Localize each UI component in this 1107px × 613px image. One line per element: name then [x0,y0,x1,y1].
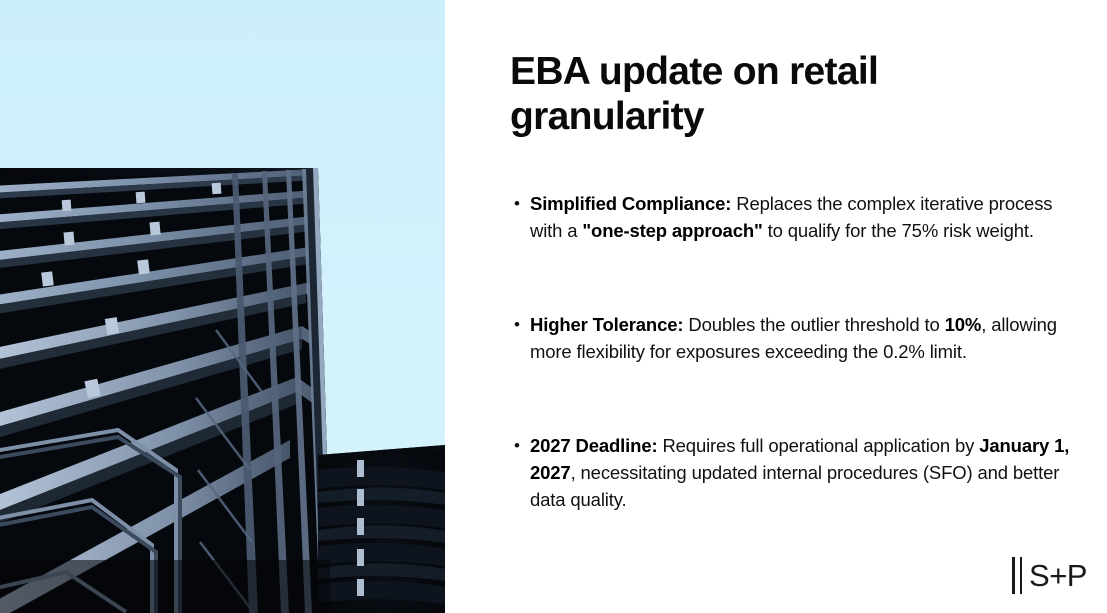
logo-text: S+P [1029,557,1087,594]
bullet-body-1: Requires full operational application by [657,435,979,456]
bullet-marker-icon: • [510,432,530,459]
bullet-lead: Simplified Compliance: [530,193,731,214]
bullet-body-2: to qualify for the 75% risk weight. [763,220,1034,241]
bullet-lead: 2027 Deadline: [530,435,657,456]
content-panel: EBA update on retail granularity • Simpl… [445,0,1107,613]
list-item: • Simplified Compliance: Replaces the co… [510,190,1085,244]
bullet-body-2: , necessitating updated internal procedu… [530,462,1059,510]
logo-bar-1 [1012,557,1015,594]
list-item: • Higher Tolerance: Doubles the outlier … [510,311,1085,365]
bullet-marker-icon: • [510,190,530,217]
slide-root: EBA update on retail granularity • Simpl… [0,0,1107,613]
bullet-marker-icon: • [510,311,530,338]
bullet-emphasis: 10% [945,314,982,335]
bullet-text: Simplified Compliance: Replaces the comp… [530,190,1085,244]
bullet-text: Higher Tolerance: Doubles the outlier th… [530,311,1085,365]
bullet-emphasis: "one-step approach" [582,220,762,241]
brand-logo: S+P [1012,555,1087,595]
bullet-text: 2027 Deadline: Requires full operational… [530,432,1085,513]
bullet-list: • Simplified Compliance: Replaces the co… [510,190,1085,513]
logo-bars-icon [1012,557,1022,594]
list-item: • 2027 Deadline: Requires full operation… [510,432,1085,513]
architecture-photo [0,0,445,613]
logo-bar-2 [1020,557,1023,594]
bullet-lead: Higher Tolerance: [530,314,683,335]
bullet-body-1: Doubles the outlier threshold to [683,314,944,335]
hero-image-panel [0,0,445,613]
page-title: EBA update on retail granularity [510,50,980,140]
